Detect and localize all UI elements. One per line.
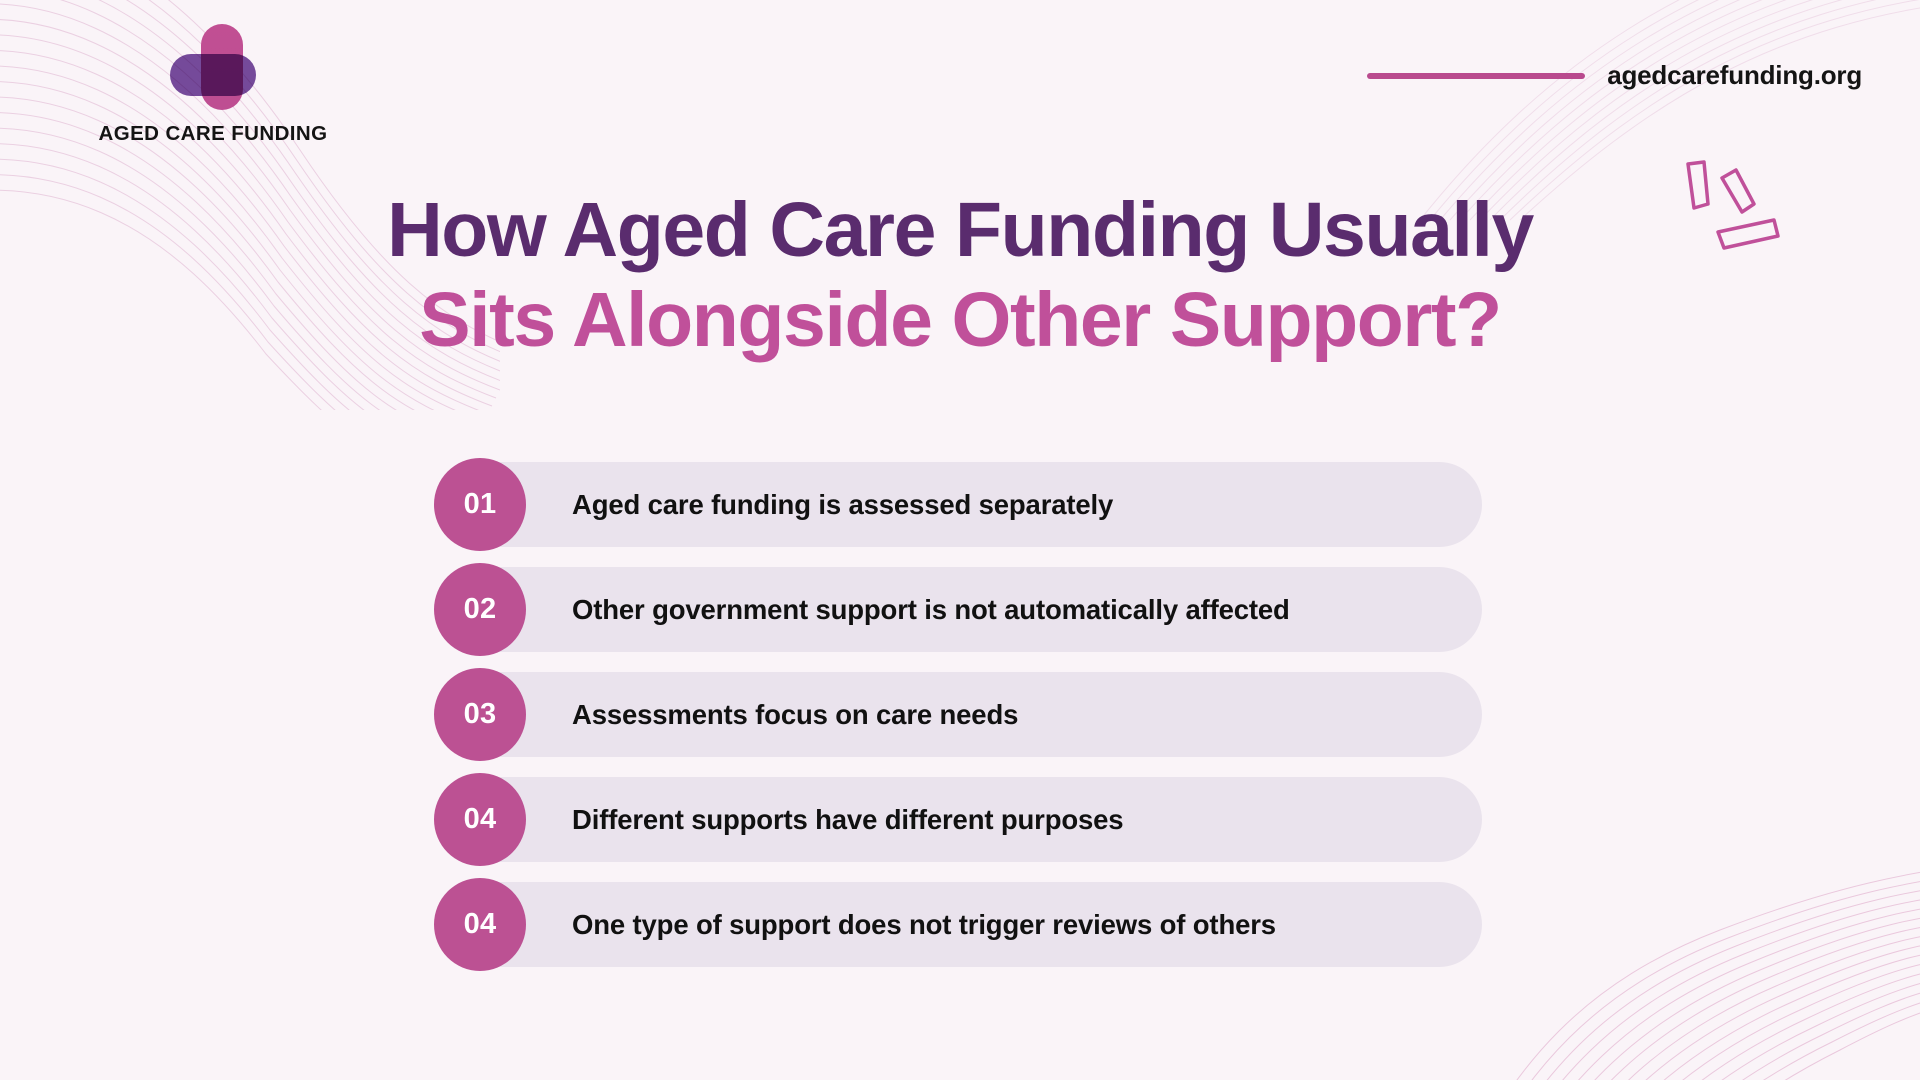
site-url-group: agedcarefunding.org xyxy=(1367,60,1862,91)
spark-burst-icon xyxy=(1678,158,1788,268)
page-title-line-2: Sits Alongside Other Support? xyxy=(0,275,1920,365)
list-item-label: One type of support does not trigger rev… xyxy=(572,909,1276,941)
list-item-label: Assessments focus on care needs xyxy=(572,699,1018,731)
list-item[interactable]: 02 Other government support is not autom… xyxy=(438,567,1482,652)
list-item-number-badge: 01 xyxy=(434,458,526,551)
list-item-number-badge: 03 xyxy=(434,668,526,761)
list-item-number-badge: 02 xyxy=(434,563,526,656)
list-item[interactable]: 04 One type of support does not trigger … xyxy=(438,882,1482,967)
key-points-list: 01 Aged care funding is assessed separat… xyxy=(438,462,1482,967)
brand-logo[interactable]: AGED CARE FUNDING xyxy=(68,24,358,146)
list-item[interactable]: 01 Aged care funding is assessed separat… xyxy=(438,462,1482,547)
list-item-label: Other government support is not automati… xyxy=(572,594,1290,626)
list-item-label: Aged care funding is assessed separately xyxy=(572,489,1113,521)
logo-horizontal-bar xyxy=(170,54,256,96)
page-title-line-1: How Aged Care Funding Usually xyxy=(0,185,1920,275)
list-item[interactable]: 03 Assessments focus on care needs xyxy=(438,672,1482,757)
list-item-number-badge: 04 xyxy=(434,773,526,866)
site-url-label[interactable]: agedcarefunding.org xyxy=(1607,60,1862,91)
background-swirl-bottom-left-icon xyxy=(0,820,260,1080)
list-item-number-badge: 04 xyxy=(434,878,526,971)
list-item-label: Different supports have different purpos… xyxy=(572,804,1123,836)
page-header: AGED CARE FUNDING agedcarefunding.org xyxy=(0,0,1920,175)
page-title: How Aged Care Funding Usually Sits Along… xyxy=(0,185,1920,365)
brand-name-label: AGED CARE FUNDING xyxy=(99,122,328,146)
site-url-rule xyxy=(1367,73,1585,79)
list-item[interactable]: 04 Different supports have different pur… xyxy=(438,777,1482,862)
cross-plus-logo-icon xyxy=(170,24,256,110)
